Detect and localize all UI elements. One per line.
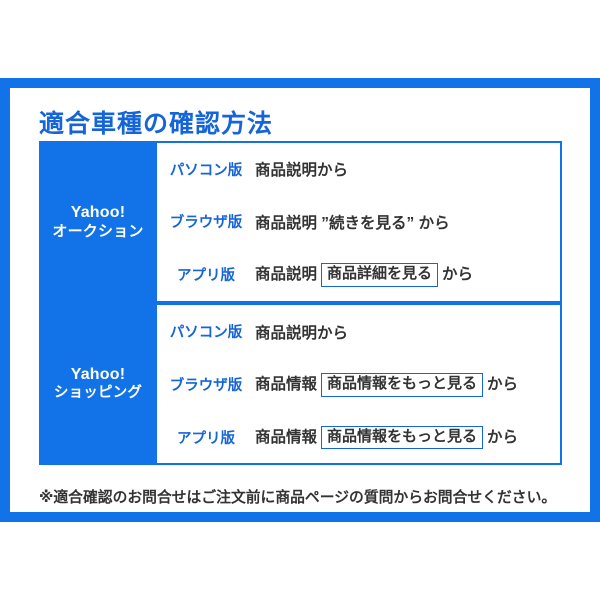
brand-service: ショッピング [39,385,157,402]
platform-label-pc-auction: パソコン版 [157,142,255,195]
fitment-check-table: Yahoo! オークション パソコン版 商品説明から ブラウザ版 商品説明 ”続… [39,141,562,465]
instruction-text-after: から [442,266,473,283]
instruction-cell-browser-shopping: 商品情報商品情報をもっと見るから [255,358,561,411]
app-detail-button[interactable]: 商品詳細を見る [321,263,438,287]
brand-cell-shopping: Yahoo! ショッピング [39,305,157,464]
platform-label-app-shopping: アプリ版 [157,411,255,464]
instruction-cell-app-shopping: 商品情報商品情報をもっと見るから [255,411,561,464]
instruction-text-before: 商品情報 [255,429,317,446]
instruction-cell-browser-auction: 商品説明 ”続きを見る” から [255,195,561,248]
instruction-text-after: から [487,429,518,446]
brand-cell-auction: Yahoo! オークション [39,142,157,301]
platform-label-app-auction: アプリ版 [157,248,255,301]
browser-more-info-button[interactable]: 商品情報をもっと見る [321,373,483,397]
footer-note: ※適合確認のお問合せはご注文前に商品ページの質問からお問合せください。 [39,486,563,507]
app-more-info-button[interactable]: 商品情報をもっと見る [321,426,483,450]
instruction-text-before: 商品情報 [255,376,317,393]
instruction-cell-pc-auction: 商品説明から [255,142,561,195]
instruction-cell-pc-shopping: 商品説明から [255,305,561,358]
instruction-cell-app-auction: 商品説明商品詳細を見るから [255,248,561,301]
brand-name: Yahoo! [39,204,157,223]
brand-name: Yahoo! [39,366,157,385]
platform-label-pc-shopping: パソコン版 [157,305,255,358]
instruction-text: 商品説明から [255,325,348,342]
table-row: Yahoo! オークション パソコン版 商品説明から [39,142,561,195]
instruction-text: 商品説明 ”続きを見る” から [255,215,450,232]
instruction-text: 商品説明から [255,162,348,179]
fitment-info-banner: 適合車種の確認方法 Yahoo! オークション パソコン版 商品説明から [0,78,600,522]
platform-label-browser-auction: ブラウザ版 [157,195,255,248]
instruction-text-before: 商品説明 [255,266,317,283]
instruction-text-after: から [487,376,518,393]
page-title: 適合車種の確認方法 [39,104,273,140]
platform-label-browser-shopping: ブラウザ版 [157,358,255,411]
banner-card: 適合車種の確認方法 Yahoo! オークション パソコン版 商品説明から [10,88,590,512]
table-row: Yahoo! ショッピング パソコン版 商品説明から [39,305,561,358]
brand-service: オークション [39,223,157,241]
